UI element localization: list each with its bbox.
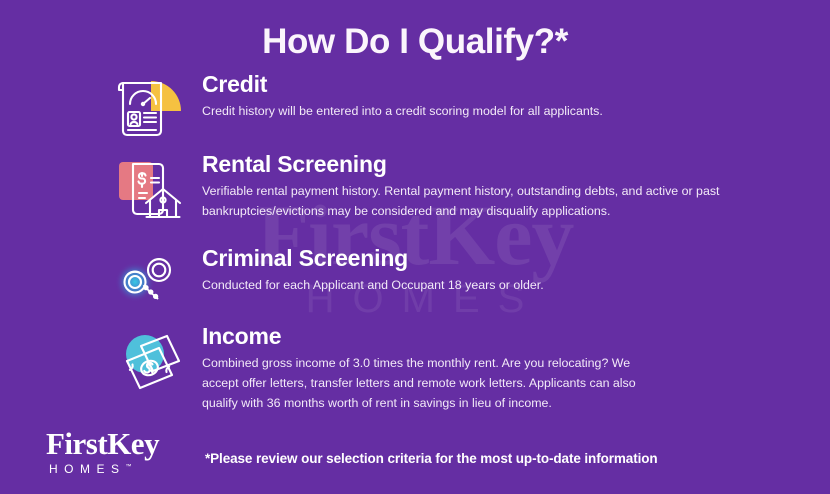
- section-income-heading: Income: [202, 324, 652, 350]
- section-income-text: Combined gross income of 3.0 times the m…: [202, 353, 652, 413]
- banknotes-icon: [108, 324, 192, 394]
- section-rental-screening-heading: Rental Screening: [202, 152, 722, 178]
- footer-disclaimer: *Please review our selection criteria fo…: [205, 451, 658, 466]
- section-rental-screening-text: Verifiable rental payment history. Renta…: [202, 181, 722, 221]
- section-rental-screening-body: Rental Screening Verifiable rental payme…: [192, 152, 722, 221]
- handcuffs-icon: [108, 246, 192, 310]
- credit-report-icon: [108, 72, 192, 138]
- section-credit: Credit Credit history will be entered in…: [108, 72, 603, 138]
- section-criminal-screening-text: Conducted for each Applicant and Occupan…: [202, 275, 544, 295]
- section-credit-heading: Credit: [202, 72, 603, 98]
- section-credit-body: Credit Credit history will be entered in…: [192, 72, 603, 121]
- section-rental-screening: Rental Screening Verifiable rental payme…: [108, 152, 722, 222]
- section-credit-text: Credit history will be entered into a cr…: [202, 101, 603, 121]
- section-income-body: Income Combined gross income of 3.0 time…: [192, 324, 652, 413]
- trademark-symbol: ™: [126, 464, 132, 470]
- footer-logo: FirstKey HOMES™: [46, 428, 159, 476]
- rental-payment-house-icon: [108, 152, 192, 222]
- logo-homes: HOMES™: [46, 462, 159, 476]
- logo-homes-text: HOMES: [49, 462, 126, 476]
- section-criminal-screening-body: Criminal Screening Conducted for each Ap…: [192, 246, 544, 295]
- section-criminal-screening: Criminal Screening Conducted for each Ap…: [108, 246, 544, 310]
- logo-firstkey: FirstKey: [46, 428, 159, 459]
- section-criminal-screening-heading: Criminal Screening: [202, 246, 544, 272]
- page-title: How Do I Qualify?*: [0, 22, 830, 62]
- section-income: Income Combined gross income of 3.0 time…: [108, 324, 652, 413]
